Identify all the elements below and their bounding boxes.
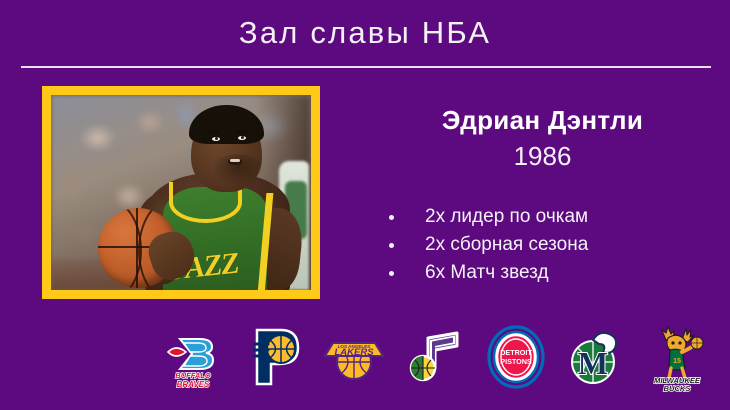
logo-text-line1: BUFFALO (175, 371, 211, 380)
page-title: Зал славы НБА (0, 14, 730, 52)
achievements-list: 2х лидер по очкам 2х сборная сезона 6х М… (386, 203, 588, 287)
team-logo-indiana-pacers (241, 322, 307, 392)
logo-text-line2: BRAVES (177, 380, 210, 389)
achievement-item: 2х сборная сезона (386, 231, 588, 259)
team-logo-strip: BUFFALO BRAVES (160, 320, 710, 394)
svg-text:15: 15 (673, 358, 681, 365)
player-brow-right (236, 129, 247, 132)
player-eye-left (212, 137, 220, 141)
logo-text-line2: LAKERS (335, 347, 375, 358)
team-logo-detroit-pistons: DETROIT PISTONS (483, 322, 549, 392)
team-logo-milwaukee-bucks: 15 MILWAUKEE BUCKS (644, 322, 710, 392)
logo-letter: M (578, 345, 608, 381)
team-logo-utah-jazz (402, 322, 468, 392)
title-divider (21, 66, 711, 68)
team-logo-dallas-mavericks: M (563, 322, 629, 392)
logo-text-line1: DETROIT (500, 348, 532, 357)
achievement-item: 6х Матч звезд (386, 259, 588, 287)
team-logo-buffalo-braves: BUFFALO BRAVES (160, 322, 226, 392)
hall-of-fame-slide: Зал славы НБА JAZZ (0, 0, 730, 410)
player-eye-right (238, 136, 246, 140)
ball-seam-curve-left (98, 208, 142, 288)
logo-text-line2: PISTONS (500, 357, 532, 366)
achievement-item: 2х лидер по очкам (386, 203, 588, 231)
player-photo: JAZZ (51, 95, 311, 290)
team-logo-lakers: LOS ANGELES LAKERS (321, 322, 387, 392)
player-beard (212, 154, 264, 185)
player-name: Эдриан Дэнтли (370, 105, 715, 135)
logo-text-line2: BUCKS (663, 384, 690, 392)
player-photo-frame: JAZZ (42, 86, 320, 299)
induction-year: 1986 (370, 141, 715, 171)
